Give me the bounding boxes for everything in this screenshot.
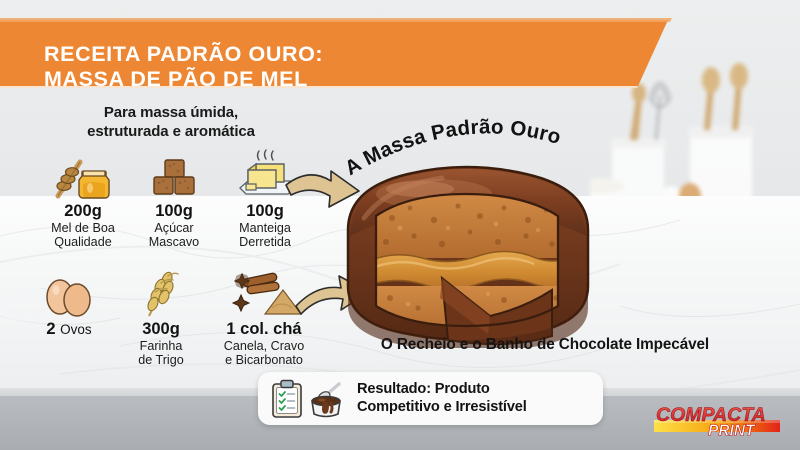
ingredient-name: Farinha de Trigo: [138, 339, 184, 367]
page-title: RECEITA PADRÃO OURO: MASSA DE PÃO DE MEL: [44, 42, 604, 92]
ingredient-item-brown-sugar: 100g Açúcar Mascavo: [134, 148, 214, 249]
chocolate-caption: O Recheio e o Banho de Chocolate Impecáv…: [330, 336, 760, 354]
eggs-count: 2: [46, 320, 55, 338]
lead-text-line2: estruturada e aromática: [46, 123, 296, 142]
ingredient-amount: 2 Ovos: [46, 321, 91, 338]
ingredient-item-honey: 200g Mel de Boa Qualidade: [40, 148, 126, 249]
ingredient-row-2: 2 Ovos: [28, 266, 316, 367]
pao-de-mel-illustration: [338, 158, 596, 348]
result-card-icons: [270, 379, 346, 419]
chocolate-bowl-spoon-icon: [306, 379, 346, 419]
ingredient-name: Açúcar Mascavo: [149, 221, 199, 249]
ingredient-name-line1: Mel de Boa: [51, 221, 115, 235]
ingredient-name-line2: e Bicarbonato: [224, 353, 305, 367]
ingredient-name: Manteiga Derretida: [239, 221, 291, 249]
ingredient-name-line2: de Trigo: [138, 353, 184, 367]
ingredient-amount: 1 col. chá: [226, 321, 301, 338]
ingredient-name-line1: Canela, Cravo: [224, 339, 305, 353]
lead-text-line1: Para massa úmida,: [46, 104, 296, 123]
ingredient-name-line2: Derretida: [239, 235, 291, 249]
compacta-print-logo[interactable]: COMPACTA PRINT: [650, 399, 790, 443]
result-card-line1: Resultado: Produto: [357, 381, 527, 399]
ingredient-amount: 100g: [155, 203, 193, 220]
logo-line2: PRINT: [708, 423, 756, 440]
spices-cinnamon-icon: [225, 266, 303, 318]
ingredient-name-line1: Farinha: [138, 339, 184, 353]
ingredient-name: Canela, Cravo e Bicarbonato: [224, 339, 305, 367]
clipboard-checklist-icon: [270, 379, 304, 419]
ingredient-item-flour: 300g Farinha de Trigo: [119, 266, 203, 367]
wheat-flour-icon: [135, 266, 187, 318]
ingredient-row-1: 200g Mel de Boa Qualidade: [40, 148, 308, 249]
ingredient-amount: 200g: [64, 203, 102, 220]
result-card-text: Resultado: Produto Competitivo e Irresis…: [357, 381, 527, 416]
ingredient-amount: 100g: [246, 203, 284, 220]
page-title-line2: MASSA DE PÃO DE MEL: [44, 67, 604, 92]
brown-sugar-cubes-icon: [147, 148, 201, 200]
page-title-line1: RECEITA PADRÃO OURO:: [44, 42, 323, 66]
ingredient-amount: 300g: [142, 321, 180, 338]
infographic-canvas: RECEITA PADRÃO OURO: MASSA DE PÃO DE MEL…: [0, 0, 800, 450]
ingredient-name-line2: Mascavo: [149, 235, 199, 249]
ingredient-name-line2: Qualidade: [51, 235, 115, 249]
ingredient-name-line1: Manteiga: [239, 221, 291, 235]
eggs-unit: Ovos: [60, 322, 92, 337]
result-card-line2: Competitivo e Irresistível: [357, 399, 527, 417]
result-card[interactable]: Resultado: Produto Competitivo e Irresis…: [258, 372, 603, 425]
ingredient-name-line1: Açúcar: [149, 221, 199, 235]
lead-text: Para massa úmida, estruturada e aromátic…: [46, 104, 296, 141]
honey-jar-dipper-icon: [50, 148, 116, 200]
ingredient-item-eggs: 2 Ovos: [28, 266, 110, 367]
header-banner: RECEITA PADRÃO OURO: MASSA DE PÃO DE MEL: [0, 18, 690, 88]
eggs-icon: [39, 266, 99, 318]
ingredient-name: Mel de Boa Qualidade: [51, 221, 115, 249]
